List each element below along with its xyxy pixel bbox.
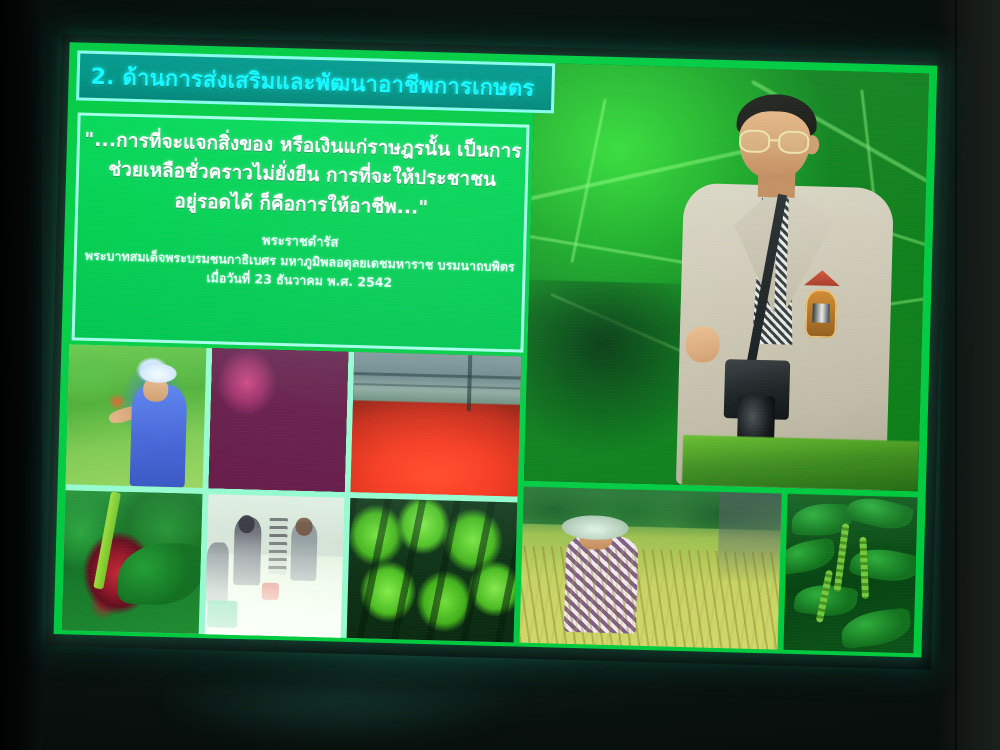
photo-tomato-greenhouse [351,352,521,496]
photo-mangosteen [208,348,348,492]
slide-quote-box: "...การที่จะแจกสิ่งของ หรือเงินแก่ราษฎรน… [72,112,530,352]
king-eyeglasses [739,130,810,154]
rice-stalks [520,546,781,650]
screenshot-root: 2. ด้านการส่งเสริมและพัฒนาอาชีพการเกษตร … [0,0,1000,750]
portrait-king-bhumibol [524,63,929,492]
quote-attribution: พระราชดำรัส พระบาทสมเด็จพระบรมชนกาธิเบศร… [84,227,515,296]
photo-pepper-vine [783,494,917,653]
presentation-slide: 2. ด้านการส่งเสริมและพัฒนาอาชีพการเกษตร … [54,42,938,657]
wall-seam [955,0,957,750]
king-figure [642,87,929,491]
projection-screen: 2. ด้านการส่งเสริมและพัฒนาอาชีพการเกษตร … [45,28,952,692]
portrait-foreground-foliage [681,435,919,492]
photo-grid [62,344,522,642]
king-jacket-emblem [805,290,837,338]
king-hand [685,326,720,363]
photo-lettuce-rows [347,498,517,642]
slide-title: 2. ด้านการส่งเสริมและพัฒนาอาชีพการเกษตร [79,58,535,105]
floor-reflection-secondary [170,690,590,750]
room-wall-left-shadow [0,0,42,750]
quote-line-3: อยู่รอดได้ ก็คือการให้อาชีพ..." [174,187,429,223]
photo-red-berry-plant [62,490,202,634]
slide-title-bar: 2. ด้านการส่งเสริมและพัฒนาอาชีพการเกษตร [76,50,555,113]
photo-market-processing [204,494,344,638]
photo-rice-field-farmer [520,487,782,650]
photo-orchard-farmer [66,344,206,488]
